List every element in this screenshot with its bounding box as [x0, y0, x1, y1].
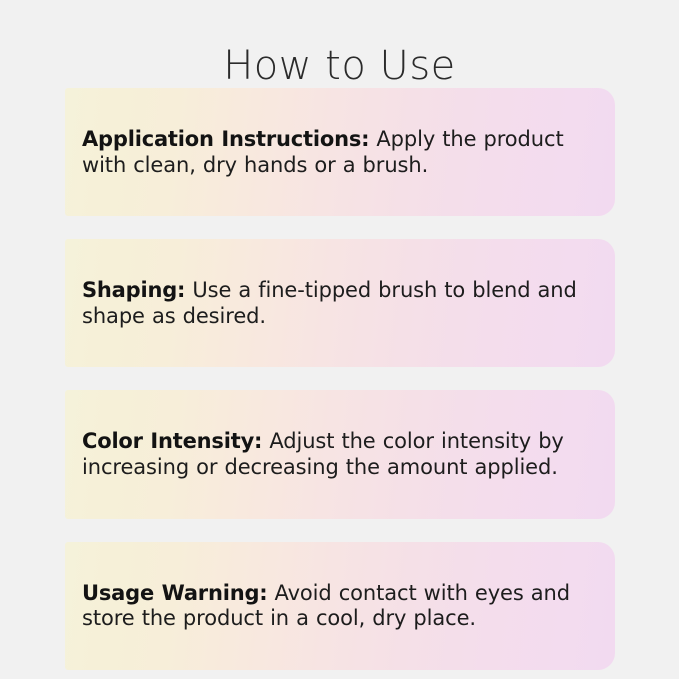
how-to-use-infographic: How to Use Application Instructions: App…: [0, 0, 679, 679]
instruction-card-shaping: Shaping: Use a fine-tipped brush to blen…: [65, 239, 615, 367]
instruction-card-application-instructions: Application Instructions: Apply the prod…: [65, 88, 615, 216]
instruction-card-list: Application Instructions: Apply the prod…: [65, 88, 615, 670]
instruction-card-usage-warning: Usage Warning: Avoid contact with eyes a…: [65, 542, 615, 670]
instruction-card-color-intensity: Color Intensity: Adjust the color intens…: [65, 390, 615, 518]
instruction-card-text: Usage Warning: Avoid contact with eyes a…: [82, 581, 593, 632]
instruction-card-label: Color Intensity:: [82, 429, 262, 453]
instruction-card-label: Shaping:: [82, 278, 185, 302]
instruction-card-label: Usage Warning:: [82, 581, 267, 605]
instruction-card-text: Color Intensity: Adjust the color intens…: [82, 429, 593, 480]
instruction-card-label: Application Instructions:: [82, 127, 369, 151]
instruction-card-text: Application Instructions: Apply the prod…: [82, 127, 593, 178]
page-title: How to Use: [0, 41, 679, 91]
instruction-card-text: Shaping: Use a fine-tipped brush to blen…: [82, 278, 593, 329]
